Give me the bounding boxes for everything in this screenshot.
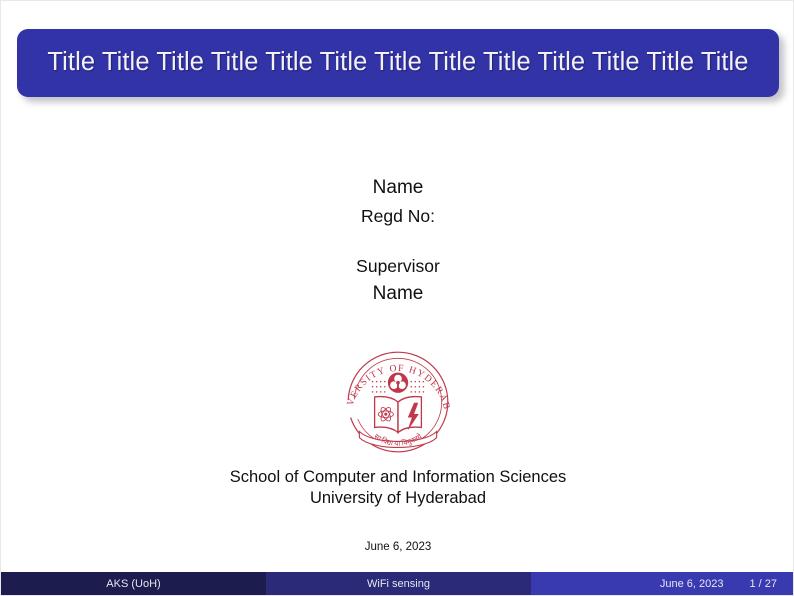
slide-title: Title Title Title Title Title Title Titl… xyxy=(43,43,753,81)
institute-block: School of Computer and Information Scien… xyxy=(1,467,794,509)
footer-date: June 6, 2023 xyxy=(660,578,724,590)
footer-short-title: WiFi sensing xyxy=(266,572,531,595)
crest-container: UNIVERSITY OF HYDERABAD xyxy=(1,345,794,464)
presentation-slide: Title Title Title Title Title Title Titl… xyxy=(0,0,794,596)
title-banner: Title Title Title Title Title Title Titl… xyxy=(17,29,779,97)
footer-page-number: 1 / 27 xyxy=(749,578,777,590)
university-name: University of Hyderabad xyxy=(1,488,794,509)
author-name: Name xyxy=(1,173,794,203)
university-crest-icon: UNIVERSITY OF HYDERABAD xyxy=(337,345,459,459)
author-spacer xyxy=(1,229,794,253)
supervisor-name: Name xyxy=(1,279,794,309)
school-name: School of Computer and Information Scien… xyxy=(1,467,794,488)
author-block: Name Regd No: Supervisor Name xyxy=(1,173,794,309)
slide-footer: AKS (UoH) WiFi sensing June 6, 2023 1 / … xyxy=(1,572,794,595)
slide-date: June 6, 2023 xyxy=(1,541,794,553)
footer-author: AKS (UoH) xyxy=(1,572,266,595)
author-regd-no: Regd No: xyxy=(1,203,794,229)
supervisor-label: Supervisor xyxy=(1,253,794,279)
footer-right-segment: June 6, 2023 1 / 27 xyxy=(531,572,794,595)
